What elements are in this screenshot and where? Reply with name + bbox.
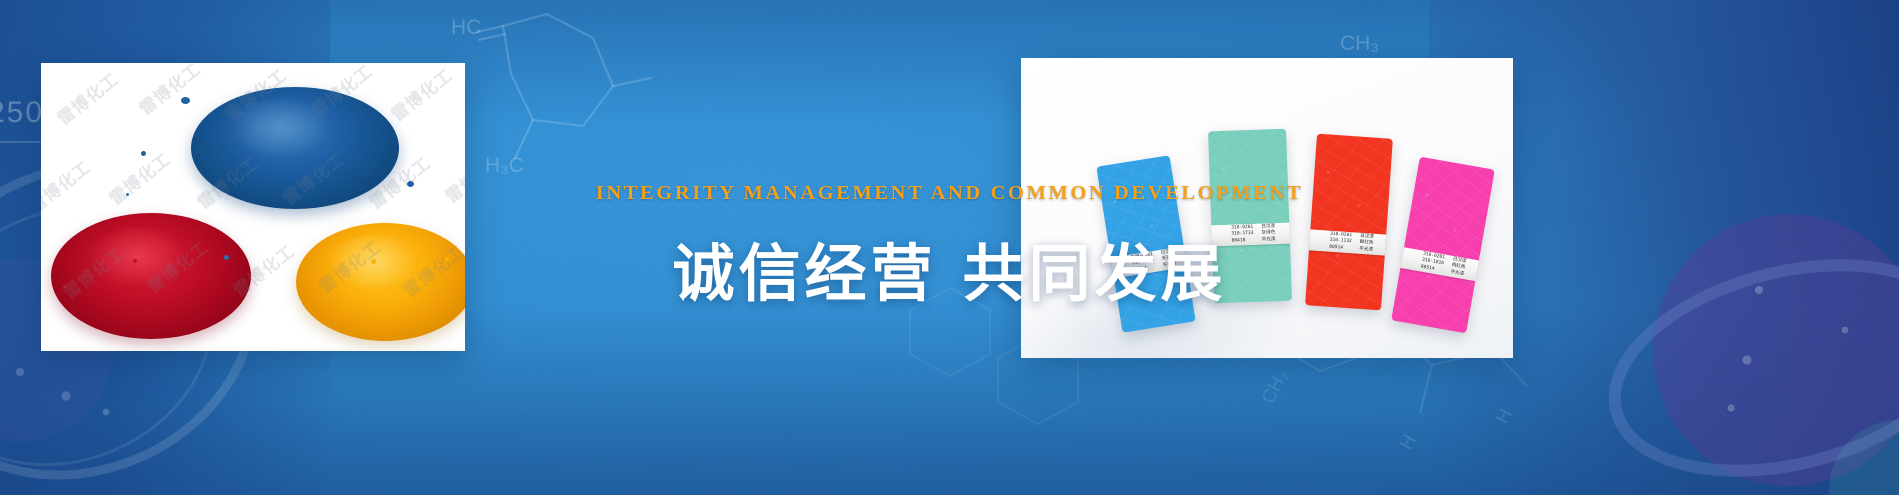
swatch-texture [1208, 129, 1292, 304]
watermark: 雷博化工 [305, 63, 377, 122]
watermark: 雷博化工 [277, 145, 349, 209]
swatch-name-bot: 平光漆 [1262, 237, 1276, 244]
green-swatch-card: 310-0201 310-1T33 80418 日汉漆 灰绿色 平光漆 [1208, 129, 1292, 304]
hero-banner: 250 HC [0, 0, 1899, 495]
watermark: 雷博化工 [141, 233, 213, 297]
swatch-name-bot: 平光漆 [1450, 270, 1465, 279]
swatch-name-bot: 平光漆 [1359, 247, 1373, 255]
swatch-code-bot: 80418 [1232, 238, 1254, 245]
watermark: 雷博化工 [439, 143, 465, 207]
watermark: 雷博化工 [191, 149, 263, 213]
watermark: 雷博化工 [227, 237, 299, 301]
color-swatch-photo: 310-0201 310-1015 80514 日汉漆 天兰色 平光漆 [1021, 58, 1513, 358]
watermark: 雷博化工 [313, 233, 385, 297]
photo-watermark-layer: 雷博化工 雷博化工 雷博化工 雷博化工 雷博化工 雷博化工 雷博化工 雷博化工 … [41, 63, 465, 351]
watermark: 雷博化工 [133, 63, 205, 120]
watermark: 雷博化工 [385, 63, 457, 126]
watermark: 雷博化工 [51, 65, 123, 129]
swatch-texture [1391, 157, 1495, 334]
watermark: 雷博化工 [363, 149, 435, 213]
swatch-texture [1305, 134, 1393, 311]
swatch-code-bot: 80514 [1329, 245, 1352, 253]
watermark: 雷博化工 [57, 239, 129, 303]
watermark: 雷博化工 [41, 153, 95, 217]
red-swatch-card: 310-0201 310-1132 80514 日汉漆 鲜红色 平光漆 [1305, 134, 1393, 311]
watermark: 雷博化工 [219, 63, 291, 126]
pigment-powder-photo: 雷博化工 雷博化工 雷博化工 雷博化工 雷博化工 雷博化工 雷博化工 雷博化工 … [41, 63, 465, 351]
swatch-name-bot: 平光漆 [1162, 261, 1177, 270]
watermark: 雷博化工 [397, 237, 465, 301]
watermark: 雷博化工 [103, 145, 175, 209]
pink-swatch-card: 310-0201 310-1016 80514 日汉漆 桃红色 平光漆 [1391, 157, 1495, 334]
swatch-label-band: 310-0201 310-1T33 80418 日汉漆 灰绿色 平光漆 [1208, 222, 1292, 246]
